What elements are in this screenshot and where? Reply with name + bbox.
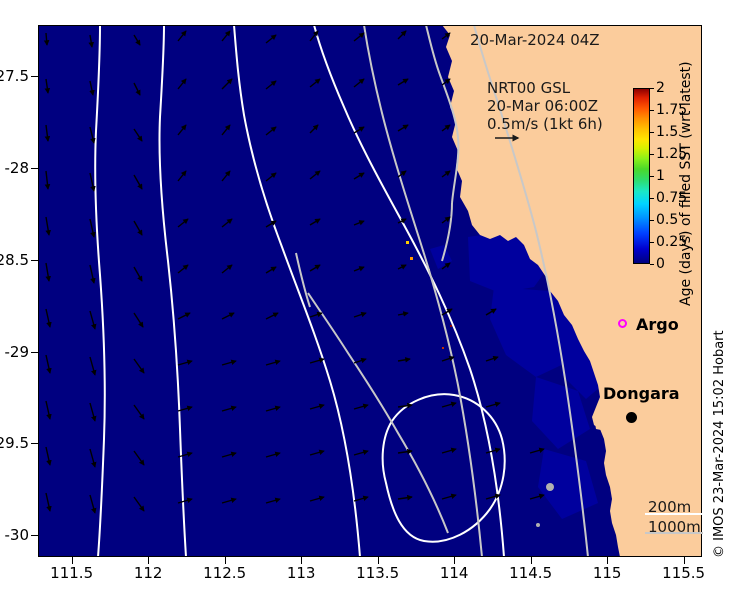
y-axis-tick (31, 535, 38, 536)
argo-legend-marker-icon (618, 319, 627, 328)
y-axis-tick (31, 260, 38, 261)
colorbar-tick (650, 88, 654, 89)
colorbar-tick (650, 154, 654, 155)
x-axis-tick-label: 114.5 (509, 564, 552, 582)
dongara-town-label: Dongara (603, 384, 680, 403)
colorbar-title-text: Age (days) of filled SST (wrt latest) (678, 284, 694, 306)
x-axis-tick-label: 111.5 (50, 564, 93, 582)
colorbar-gradient (633, 88, 650, 264)
colorbar-tick (650, 176, 654, 177)
depth-1000m-label: 1000m (648, 517, 701, 537)
x-axis-tick-label: 112 (134, 564, 163, 582)
y-axis-tick (31, 352, 38, 353)
x-axis-tick (72, 557, 73, 564)
colorbar-title: Age (days) of filled SST (wrt latest) (676, 30, 698, 310)
x-axis-tick (148, 557, 149, 564)
x-axis-tick-label: 113 (287, 564, 316, 582)
credit-label: © IMOS 23-Mar-2024 15:02 Hobart (712, 534, 727, 558)
x-axis-tick-label: 115 (593, 564, 622, 582)
y-axis-tick (31, 168, 38, 169)
colorbar-tick-label: 0.5 (656, 212, 678, 228)
y-axis-tick-label: 27.5 (0, 67, 29, 85)
colorbar-tick (650, 242, 654, 243)
colorbar-tick (650, 110, 654, 111)
credit-text: © IMOS 23-Mar-2024 15:02 Hobart (710, 310, 734, 570)
colorbar-tick (650, 198, 654, 199)
colorbar-tick (650, 220, 654, 221)
current-source-label: NRT00 GSL (487, 79, 603, 97)
x-axis-tick (378, 557, 379, 564)
dongara-station-dot[interactable] (626, 412, 637, 423)
current-time-label: 20-Mar 06:00Z (487, 97, 603, 115)
colorbar-tick-label: 1 (656, 168, 665, 184)
y-axis-tick (31, 443, 38, 444)
colorbar-tick-label: 2 (656, 80, 665, 96)
x-axis-tick (607, 557, 608, 564)
y-axis-tick-label: -28 (5, 159, 30, 177)
date-stamp: 20-Mar-2024 04Z (470, 31, 600, 49)
x-axis-tick (301, 557, 302, 564)
x-axis-tick (531, 557, 532, 564)
colorbar-tick-label: 0 (656, 256, 665, 272)
x-axis-tick-label: 112.5 (203, 564, 246, 582)
vector-scale-arrow-icon (494, 132, 524, 144)
depth-1000m-line-swatch (645, 532, 703, 534)
current-scale-label: 0.5m/s (1kt 6h) (487, 115, 603, 133)
x-axis-tick-label: 115.5 (662, 564, 705, 582)
x-axis-tick (684, 557, 685, 564)
argo-legend-label: Argo (636, 315, 679, 334)
depth-contour-legend: 200m 1000m (648, 497, 701, 537)
depth-200m-line-swatch (645, 513, 703, 515)
colorbar[interactable]: 21.751.51.2510.750.50.250 (633, 88, 650, 264)
y-axis-tick-label: -30 (5, 526, 30, 544)
colorbar-tick-label: 1.5 (656, 124, 678, 140)
colorbar-tick (650, 264, 654, 265)
x-axis-tick (454, 557, 455, 564)
x-axis-tick-label: 114 (440, 564, 469, 582)
y-axis-tick-label: -29 (5, 343, 30, 361)
current-vector-legend: NRT00 GSL 20-Mar 06:00Z 0.5m/s (1kt 6h) (487, 79, 603, 133)
x-axis-tick-label: 113.5 (356, 564, 399, 582)
y-axis-tick-label: 29.5 (0, 434, 29, 452)
x-axis-tick (225, 557, 226, 564)
y-axis-tick-label: 28.5 (0, 251, 29, 269)
y-axis-tick (31, 76, 38, 77)
colorbar-tick (650, 132, 654, 133)
